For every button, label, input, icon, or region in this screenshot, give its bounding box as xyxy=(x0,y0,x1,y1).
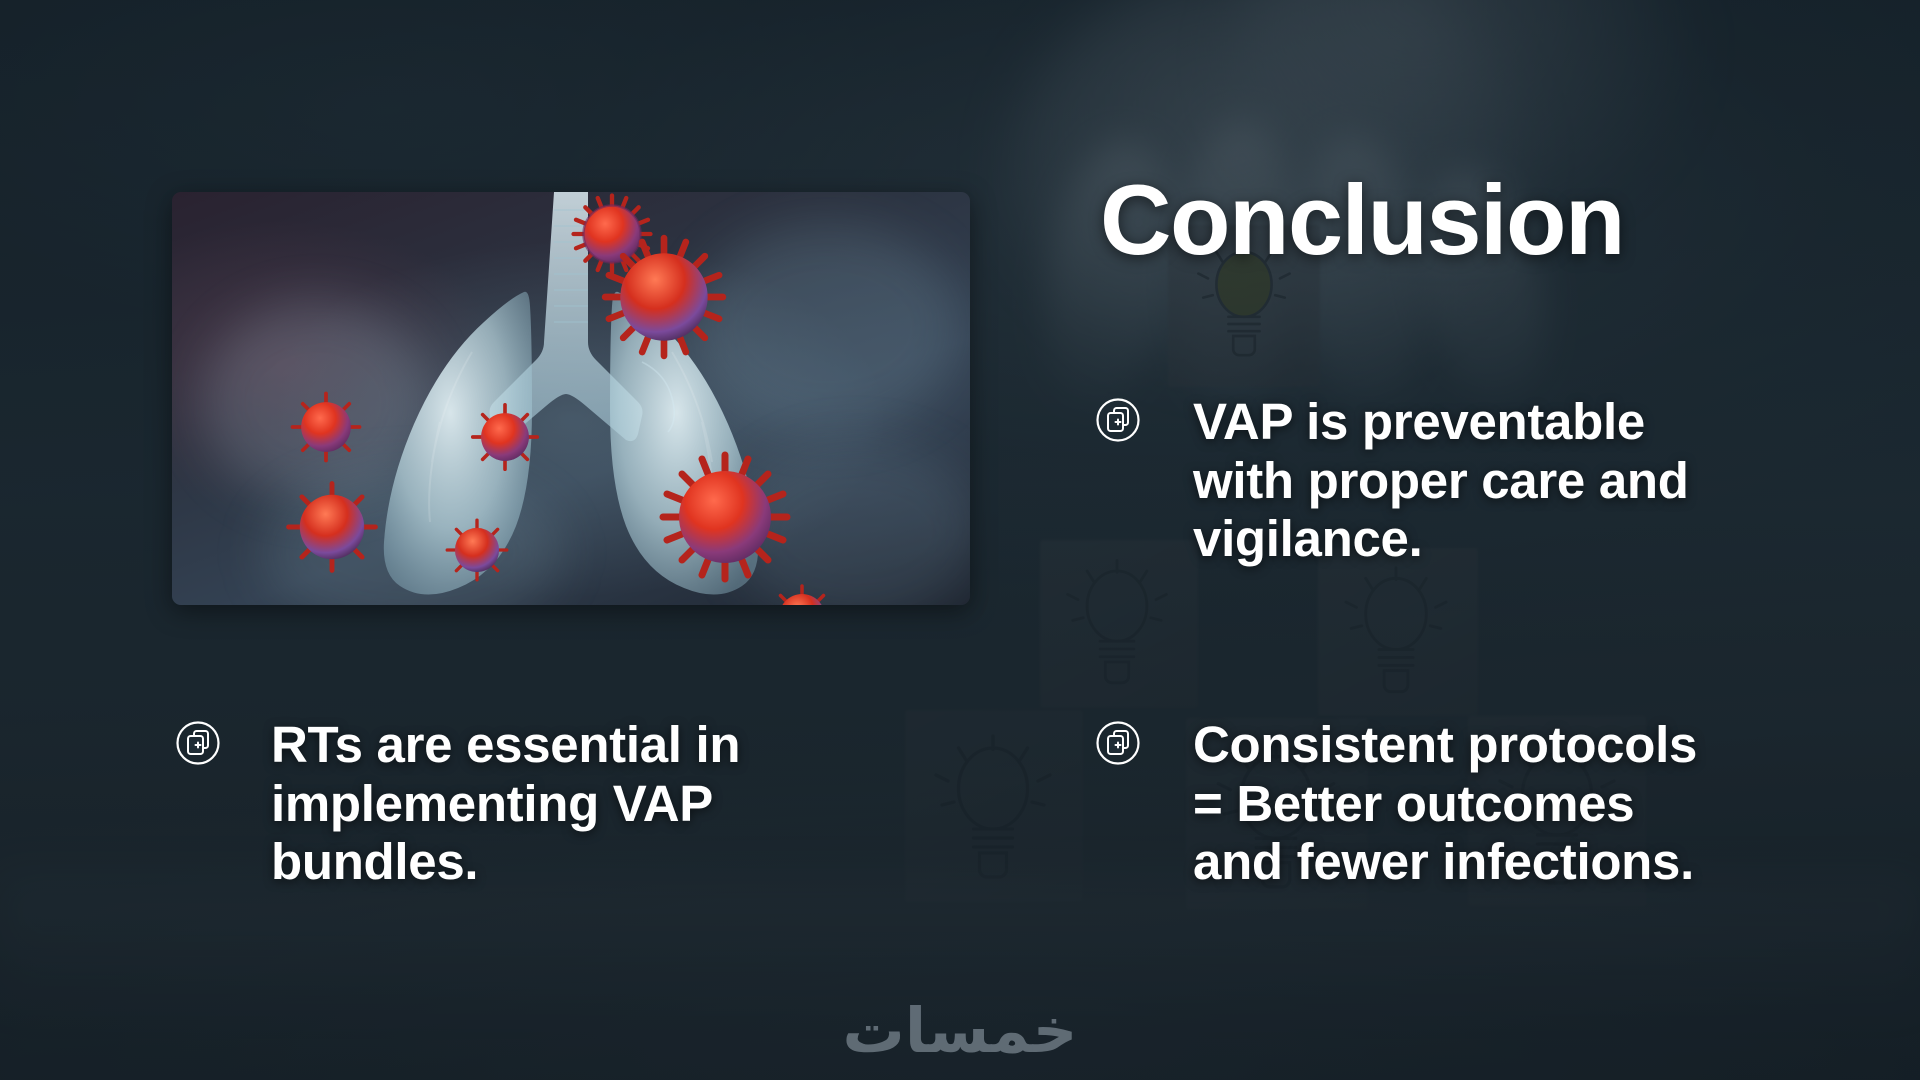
bullet-text: RTs are essential in implementing VAP bu… xyxy=(271,716,795,892)
bullet-text: VAP is preventable with proper care and … xyxy=(1193,393,1695,569)
bullet-text: Consistent protocols = Better outcomes a… xyxy=(1193,716,1735,892)
lungs-svg xyxy=(172,192,970,605)
lungs-image xyxy=(172,192,970,605)
watermark: خمسات xyxy=(0,1000,1920,1062)
bullet-item: VAP is preventable with proper care and … xyxy=(1095,393,1695,569)
bullet-item: RTs are essential in implementing VAP bu… xyxy=(175,716,795,892)
bullet-item: Consistent protocols = Better outcomes a… xyxy=(1095,716,1735,892)
page-title: Conclusion xyxy=(1100,170,1624,269)
document-add-icon xyxy=(1095,397,1141,448)
document-add-icon xyxy=(175,720,221,771)
document-add-icon xyxy=(1095,720,1141,771)
